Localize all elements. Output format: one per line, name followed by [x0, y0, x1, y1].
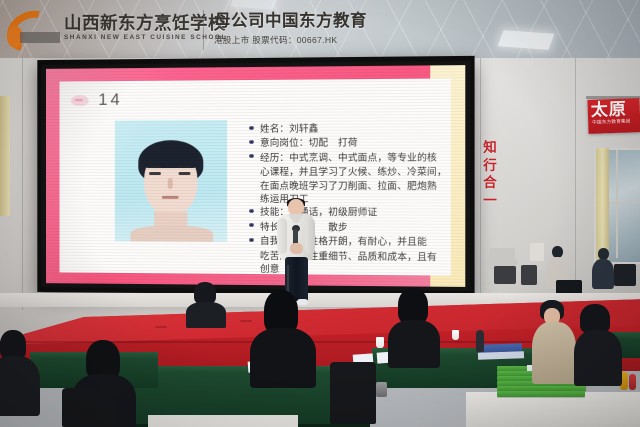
bullet-dot-icon: [249, 154, 254, 158]
bullet-text: 姓名：刘轩鑫: [260, 124, 318, 135]
person-hair: [398, 288, 428, 324]
bullet-continuation: 吃苦耐劳，注重细节、品质和成本，且有: [249, 249, 410, 264]
bullet-row: 经历：中式烹调、中式面点，等专业的核: [249, 150, 410, 164]
person-body: [388, 320, 440, 368]
bullet-dot-icon: [249, 126, 254, 130]
window-mullion: [616, 150, 618, 258]
person-body: [186, 302, 226, 328]
photo-mouth: [162, 196, 179, 199]
background-person: [592, 259, 614, 289]
screenshot-root: 山西新东方烹饪学校 SHANXI NEW EAST CUISINE SCHOOL…: [0, 0, 640, 427]
bullet-continuation: 创意: [249, 262, 410, 277]
slide-bullet-list: 姓名：刘轩鑫 意向岗位：切配 打荷 经历：中式烹调、中式面点，等专业的核 心课程…: [249, 121, 410, 276]
chair: [330, 362, 376, 424]
banner-sub-text: 中国东方教育集团: [592, 118, 640, 126]
speech-bubble-icon: [71, 95, 88, 106]
school-logo: [4, 10, 62, 52]
slogan-char: 知: [481, 139, 499, 157]
left-curtain: [0, 96, 10, 216]
banner-main-text: 太原: [590, 100, 640, 120]
bullet-dot-icon: [249, 209, 254, 213]
photo-nose: [168, 178, 173, 189]
parent-company-subtitle: 港股上市 股票代码：00667.HK: [214, 34, 367, 46]
person-hair: [194, 282, 216, 304]
bullet-dot-icon: [249, 223, 254, 227]
presentation-slide: 14: [46, 65, 465, 287]
bullet-continuation: 练运用刀工: [249, 192, 410, 206]
bullet-row: 姓名：刘轩鑫: [249, 121, 410, 135]
presenter-hands: [290, 243, 303, 254]
photo-eye: [149, 172, 161, 175]
presenter-arm-left: [277, 218, 287, 254]
chair: [62, 388, 114, 427]
continuation-text: 心课程，并且学习了火候、练炒、冷菜间，: [260, 167, 447, 178]
photo-brow: [178, 166, 192, 168]
wall-seam: [22, 58, 23, 310]
paper-cup: [376, 337, 384, 348]
right-curtain: [596, 148, 609, 260]
person-body: [0, 356, 40, 416]
led-screen[interactable]: 14: [37, 56, 474, 296]
wall-seam: [575, 58, 576, 298]
slogan-char: 合: [481, 174, 499, 192]
red-banner: 太原 中国东方教育集团: [587, 98, 640, 134]
metal-tumbler: [376, 382, 387, 397]
photo-fringe: [142, 142, 199, 168]
photo-shoulders: [130, 225, 213, 241]
bullet-dot-icon: [249, 238, 254, 242]
bullet-continuation: 心课程，并且学习了火候、练炒、冷菜间，: [249, 165, 410, 179]
person-body: [574, 330, 622, 386]
candidate-photo: [115, 120, 227, 242]
continuation-text: 在面点晚班学习了刀削面、拉面、肥炮熟: [260, 181, 437, 192]
screen-bezel: 14: [41, 61, 470, 291]
equipment-box: [489, 248, 515, 258]
bullet-row: 自我评价：性格开朗，有耐心，并且能: [249, 234, 410, 248]
chair: [476, 330, 484, 352]
bullet-text: 经历：中式烹调、中式面点，等专业的核: [260, 152, 437, 163]
bullet-row: 技能：普通话，初级厨师证: [249, 205, 410, 219]
equipment-unit: [494, 266, 516, 284]
slide-number: 14: [98, 90, 122, 110]
bullet-row: 特长：跑步 散步: [249, 220, 410, 234]
ceiling-light-panel: [498, 30, 555, 50]
stage-mark: [155, 326, 167, 328]
bullet-dot-icon: [249, 140, 254, 144]
photo-brow: [148, 166, 162, 168]
person-body: [532, 322, 576, 384]
equipment-unit: [614, 264, 636, 286]
person-body: [250, 328, 316, 388]
photo-eye: [179, 172, 191, 175]
parent-company-title: 母公司中国东方教育: [214, 11, 367, 31]
logo-wordmark: [20, 32, 60, 43]
slogan-char: 行: [481, 157, 499, 175]
equipment-unit: [521, 265, 537, 285]
drink-bottle: [629, 374, 636, 390]
paper-cup: [452, 330, 459, 340]
bullet-continuation: 在面点晚班学习了刀削面、拉面、肥炮熟: [249, 179, 410, 193]
parent-company-block: 母公司中国东方教育 港股上市 股票代码：00667.HK: [214, 11, 367, 46]
bullet-row: 意向岗位：切配 打荷: [249, 136, 410, 150]
booklet: [497, 391, 585, 397]
presenter-shoe: [297, 299, 308, 305]
presenter-arm-right: [305, 218, 315, 254]
wall-fixture: [530, 243, 544, 261]
stage-mark: [240, 320, 252, 322]
bullet-text: 意向岗位：切配 打荷: [260, 138, 358, 149]
slogan-char: 一: [481, 192, 499, 210]
wall-slogan: 知 行 合 一: [481, 139, 499, 209]
front-table: [148, 415, 298, 427]
header-divider: [203, 10, 204, 50]
slide-content-area: 14: [60, 78, 451, 275]
